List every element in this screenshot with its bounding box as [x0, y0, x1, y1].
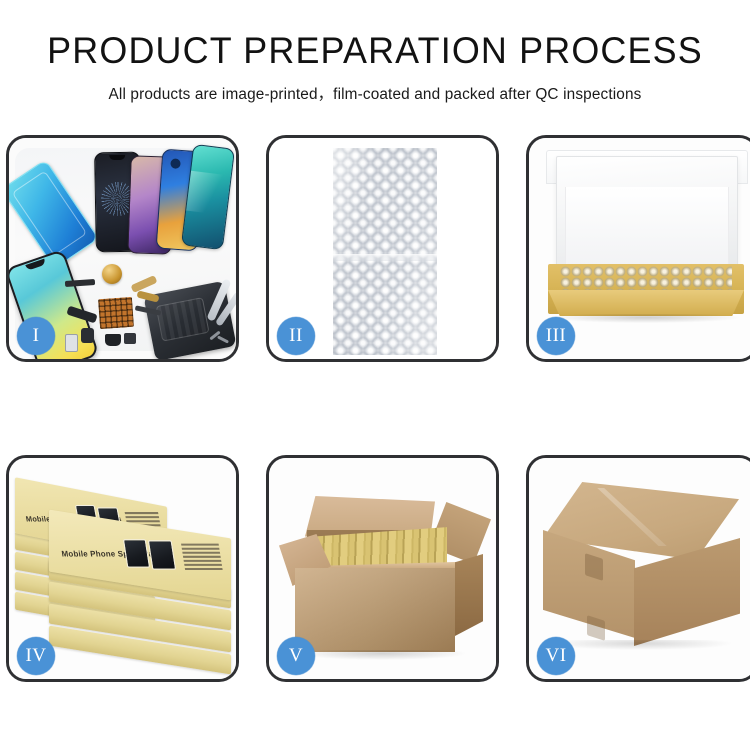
carton-shadow — [299, 650, 465, 660]
step-badge-5: V — [277, 637, 315, 675]
retail-box-spec-text — [181, 544, 223, 572]
inner-box-shadow — [553, 314, 739, 323]
speaker-part-icon — [105, 334, 121, 346]
circuit-board-part-icon — [98, 297, 134, 329]
step-badge-6: VI — [537, 637, 575, 675]
inner-box-front-panel — [548, 290, 744, 316]
button-part-icon — [124, 333, 136, 344]
sealed-carton-shadow — [551, 640, 731, 650]
step-panel-4: Mobile Phone Spare Parts Mobile Phone Sp… — [6, 455, 239, 682]
bubble-wrapped-contents — [560, 266, 732, 292]
step-panel-2: II — [266, 135, 499, 362]
camera-module-part-icon — [81, 328, 94, 343]
step-panel-5: V — [266, 455, 499, 682]
phone-screen-print — [148, 540, 176, 569]
header: PRODUCT PREPARATION PROCESS All products… — [0, 0, 750, 104]
step-badge-4: IV — [17, 637, 55, 675]
step-badge-2: II — [277, 317, 315, 355]
step-panel-6: VI — [526, 455, 750, 682]
sealed-carton-right-panel — [634, 538, 740, 646]
page-subtitle: All products are image-printed，film-coat… — [4, 71, 747, 104]
step-badge-3: III — [537, 317, 575, 355]
carton-front-panel — [295, 568, 455, 652]
phone-screen-print — [123, 539, 150, 567]
product-preparation-infographic: PRODUCT PREPARATION PROCESS All products… — [0, 0, 750, 750]
copper-coil-part-icon — [102, 264, 122, 284]
bubble-wrap-icon — [333, 148, 437, 355]
page-title: PRODUCT PREPARATION PROCESS — [11, 0, 739, 71]
inner-box-lid — [556, 156, 738, 280]
step-panel-3: III — [526, 135, 750, 362]
step-panel-1: I — [6, 135, 239, 362]
carton-side-panel — [455, 554, 483, 636]
step-badge-1: I — [17, 317, 55, 355]
steps-grid: I II III — [6, 135, 744, 682]
chip-part-icon — [65, 334, 78, 352]
